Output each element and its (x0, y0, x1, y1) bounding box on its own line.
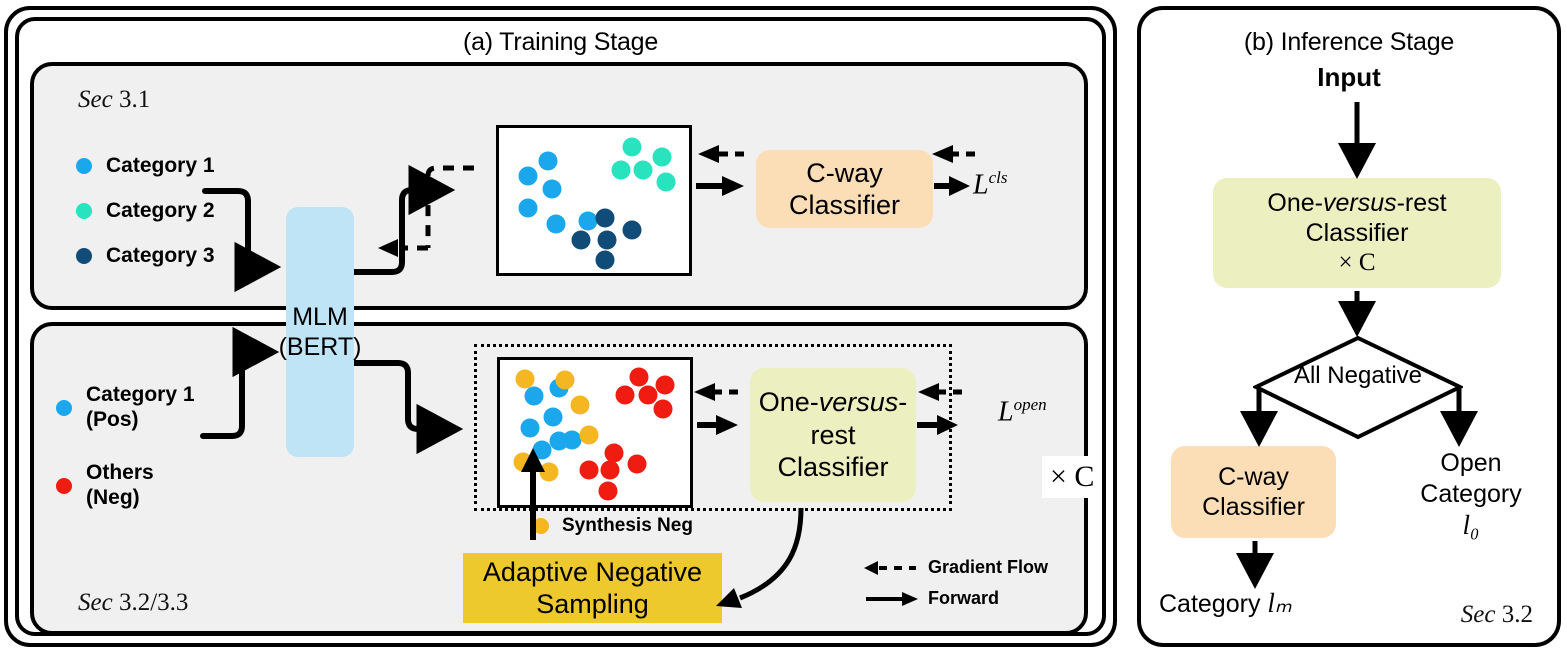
c-way-line-1: C-way (806, 157, 883, 189)
scatter-point (616, 385, 635, 404)
section-3-1-label: Sec 3.1 (78, 86, 150, 114)
scatter-point (570, 395, 589, 414)
ovr-post: - (898, 387, 907, 417)
scatter-point (629, 368, 648, 387)
scatter-point (654, 400, 673, 419)
scatter-point (571, 230, 590, 249)
legend-item-category-1-pos: Category 1 (Pos) (56, 383, 195, 433)
synthesis-neg-legend: Synthesis Neg (533, 515, 693, 537)
legend-item-category-3: Category 3 (76, 244, 215, 269)
ovr-line-2: rest (810, 419, 855, 451)
mlm-line-2: (BERT) (279, 332, 362, 362)
scatter-point (623, 220, 642, 239)
feature-space-plot-top (496, 125, 692, 276)
c-way-line-2: Classifier (789, 189, 900, 221)
one-versus-rest-classifier-box[interactable]: One-versus- rest Classifier (750, 368, 916, 502)
adaptive-negative-sampling-box[interactable]: Adaptive Negative Sampling (463, 553, 722, 623)
ans-line-1: Adaptive Negative (483, 556, 702, 588)
flow-legend-label: Gradient Flow (928, 557, 1048, 578)
scatter-point (657, 172, 676, 191)
scatter-point (515, 369, 534, 388)
scatter-point (525, 387, 544, 406)
ovr-line-1: One-versus- (759, 386, 908, 418)
scatter-point (596, 208, 615, 227)
scatter-point (579, 211, 598, 230)
sec-word: Sec (78, 589, 113, 616)
scatter-point (639, 385, 658, 404)
scatter-point (521, 419, 540, 438)
mlm-line-1: MLM (292, 302, 348, 332)
legend-label: Category 3 (106, 244, 215, 269)
inference-arrows (1141, 10, 1565, 651)
loss-base: L (998, 396, 1014, 427)
legend-label-group: Category 1 (Pos) (86, 383, 195, 433)
category-1-dot (76, 158, 92, 174)
legend-label: Category 2 (106, 199, 215, 224)
category-1-pos-dot (56, 400, 72, 416)
legend-sublabel: (Neg) (86, 486, 154, 511)
sec-word: Sec (78, 86, 113, 113)
section-3-2-3-3-label: Sec 3.2/3.3 (78, 589, 188, 617)
legend-label: Category 1 (86, 383, 195, 406)
loss-open-label: Lopen (998, 395, 1047, 428)
dashed-left-arrow-icon (864, 560, 918, 576)
scatter-point (544, 407, 563, 426)
scatter-point (598, 230, 617, 249)
scatter-point (656, 375, 675, 394)
scatter-point (599, 481, 618, 500)
scatter-point (532, 440, 551, 459)
category-3-dot (76, 248, 92, 264)
legend-item-category-1: Category 1 (76, 154, 215, 179)
flow-legend-label: Forward (928, 588, 999, 609)
inference-stage-frame: (b) Inference Stage Input One-versus-res… (1137, 6, 1561, 647)
scatter-point (555, 371, 574, 390)
scatter-point (513, 452, 532, 471)
loss-superscript: cls (989, 168, 1008, 187)
scatter-point (601, 461, 620, 480)
ovr-line-3: Classifier (777, 451, 888, 483)
loss-base: L (973, 169, 989, 200)
legend-sublabel: (Pos) (86, 408, 195, 433)
legend-label-group: Others (Neg) (86, 461, 154, 511)
scatter-point (580, 426, 599, 445)
ovr-italic: versus (819, 387, 899, 417)
scatter-point (518, 198, 537, 217)
training-stage-title: (a) Training Stage (8, 28, 1113, 57)
scatter-point (543, 179, 562, 198)
legend-label: Category 1 (106, 154, 215, 179)
training-stage-frame: (a) Training Stage Sec 3.1 Category 1 Ca… (4, 6, 1117, 647)
scatter-point (540, 462, 559, 481)
times-c-multiplier-training: × C (1042, 456, 1102, 498)
loss-cls-label: Lcls (973, 168, 1007, 201)
loss-superscript: open (1014, 395, 1047, 414)
category-2-dot (76, 203, 92, 219)
synthesis-neg-dot (533, 518, 549, 534)
mlm-bert-box[interactable]: MLM (BERT) (286, 207, 354, 457)
scatter-point (518, 166, 537, 185)
others-neg-dot (56, 478, 72, 494)
scatter-point (539, 152, 558, 171)
sec-number: 3.2/3.3 (113, 589, 189, 616)
solid-right-arrow-icon (864, 591, 918, 607)
flow-legend: Gradient Flow Forward (864, 557, 1048, 609)
scatter-point (580, 461, 599, 480)
ovr-pre: One- (759, 387, 819, 417)
synthesis-neg-label: Synthesis Neg (562, 515, 693, 537)
scatter-point (605, 443, 624, 462)
scatter-point (596, 250, 615, 269)
scatter-point (653, 148, 672, 167)
legend-label: Others (86, 461, 154, 484)
scatter-point (547, 214, 566, 233)
ans-line-2: Sampling (536, 588, 649, 620)
c-way-classifier-box[interactable]: C-way Classifier (756, 150, 933, 228)
scatter-point (623, 137, 642, 156)
scatter-point (611, 161, 630, 180)
scatter-point (627, 455, 646, 474)
scatter-point (634, 161, 653, 180)
feature-space-plot-bottom (497, 357, 693, 508)
sec-number: 3.1 (113, 86, 151, 113)
flow-legend-gradient: Gradient Flow (864, 557, 1048, 578)
scatter-point (563, 430, 582, 449)
legend-item-category-2: Category 2 (76, 199, 215, 224)
legend-item-others-neg: Others (Neg) (56, 461, 154, 511)
flow-legend-forward: Forward (864, 588, 1048, 609)
